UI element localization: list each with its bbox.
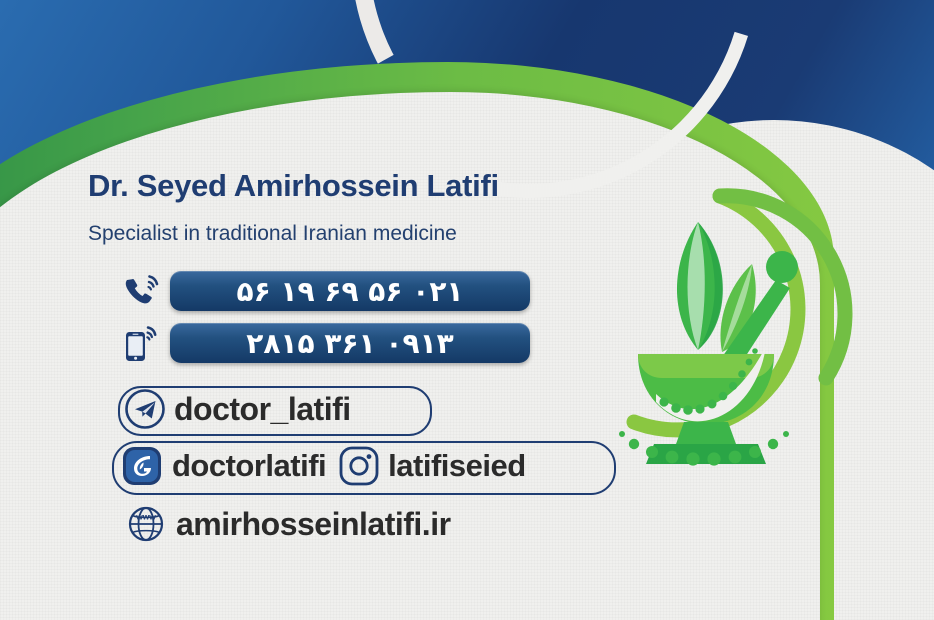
mobile-phone-icon bbox=[120, 322, 160, 364]
telegram-icon bbox=[124, 388, 166, 430]
social-row-website[interactable]: www amirhosseinlatifi.ir bbox=[124, 502, 451, 546]
svg-text:www: www bbox=[135, 512, 156, 522]
eitaa-handle[interactable]: doctorlatifi bbox=[172, 448, 326, 484]
contact-row-landline[interactable]: ۰۲۱ ۵۶ ۶۹ ۱۹ ۵۶ bbox=[120, 270, 530, 312]
social-row-messengers[interactable]: doctorlatifi latifiseied bbox=[120, 444, 526, 488]
instagram-icon bbox=[338, 445, 380, 487]
contact-row-mobile[interactable]: ۰۹۱۳ ۳۶۱ ۲۸۱۵ bbox=[120, 322, 530, 364]
mobile-number[interactable]: ۰۹۱۳ ۳۶۱ ۲۸۱۵ bbox=[170, 323, 530, 363]
doctor-name: Dr. Seyed Amirhossein Latifi bbox=[88, 168, 499, 204]
telegram-handle[interactable]: doctor_latifi bbox=[174, 391, 351, 428]
telephone-handset-icon bbox=[120, 270, 160, 312]
herbal-logo bbox=[580, 182, 860, 472]
instagram-handle[interactable]: latifiseied bbox=[388, 448, 526, 484]
website-url[interactable]: amirhosseinlatifi.ir bbox=[176, 506, 451, 543]
eitaa-icon bbox=[120, 444, 164, 488]
social-row-telegram[interactable]: doctor_latifi bbox=[124, 388, 351, 430]
card-content: Dr. Seyed Amirhossein Latifi Specialist … bbox=[0, 0, 934, 620]
business-card: Dr. Seyed Amirhossein Latifi Specialist … bbox=[0, 0, 934, 620]
www-globe-icon: www bbox=[124, 502, 168, 546]
specialty-text: Specialist in traditional Iranian medici… bbox=[88, 222, 457, 246]
landline-number[interactable]: ۰۲۱ ۵۶ ۶۹ ۱۹ ۵۶ bbox=[170, 271, 530, 311]
